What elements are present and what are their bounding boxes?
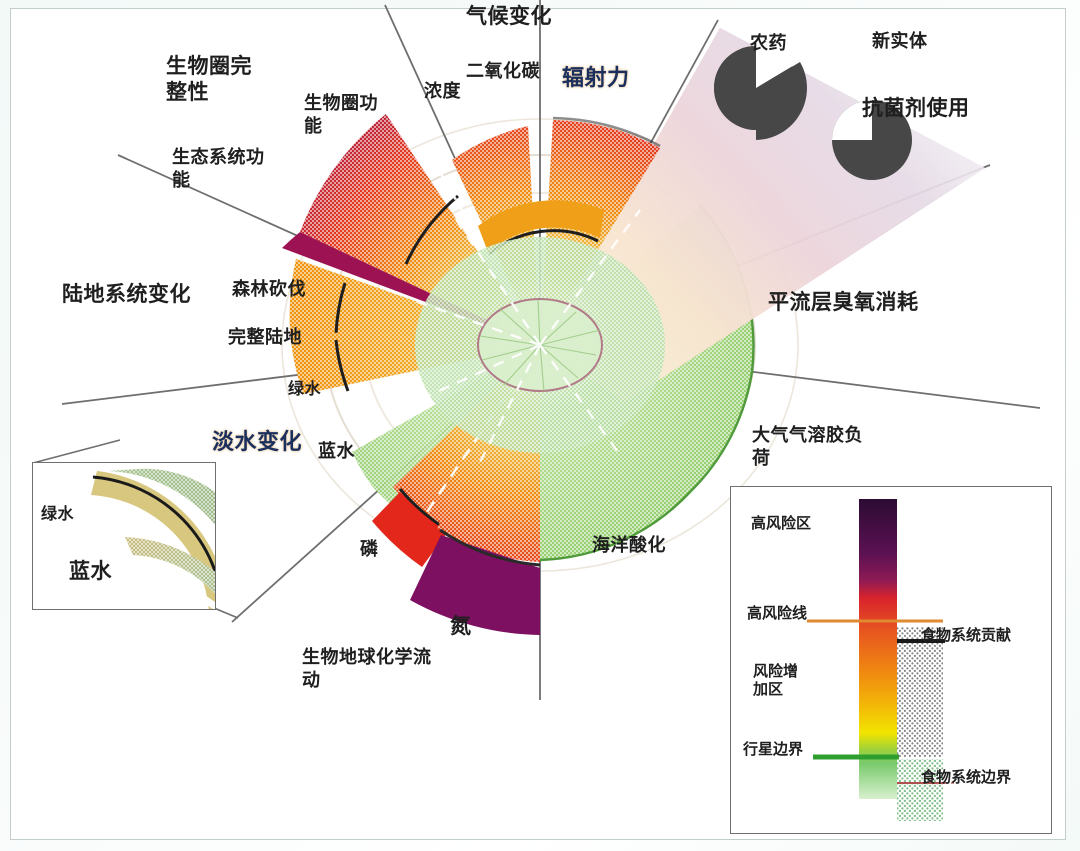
label-atmospheric-aerosol: 大气气溶胶负 荷	[752, 424, 922, 469]
inset-label-green-water: 绿水	[41, 505, 74, 525]
label-biogeochemical-flows: 生物地球化学流 动	[302, 646, 492, 691]
label-concentration: 浓度	[424, 80, 461, 103]
risk-gradient-bar	[859, 499, 897, 799]
legend-label-food-system-contribution: 食物系统贡献	[921, 627, 1011, 645]
label-co2: 二氧化碳	[466, 60, 540, 83]
legend-label-high-risk-zone: 高风险区	[751, 515, 811, 533]
legend-box: 高风险区 高风险线 风险增 加区 行星边界 食物系统贡献 食物系统边界	[730, 486, 1052, 834]
label-ecosystem-function: 生态系统功 能	[172, 146, 312, 191]
inset-label-blue-water: 蓝水	[69, 559, 112, 585]
inset-arcs	[33, 463, 215, 609]
label-land-system-change: 陆地系统变化	[62, 282, 191, 308]
label-freshwater-change: 淡水变化	[212, 428, 302, 456]
legend-label-planetary-boundary: 行星边界	[743, 741, 803, 759]
label-antimicrobial-use: 抗菌剂使用	[862, 96, 970, 122]
label-deforestation: 森林砍伐	[232, 278, 306, 301]
legend-label-high-risk-line: 高风险线	[747, 605, 807, 623]
label-intact-land: 完整陆地	[228, 326, 302, 349]
label-ocean-acidification: 海洋酸化	[592, 534, 666, 557]
label-phosphorus: 磷	[360, 538, 379, 561]
label-biosphere-integrity: 生物圈完 整性	[166, 54, 306, 107]
label-blue-water: 蓝水	[318, 440, 355, 463]
label-nitrogen: 氮	[450, 614, 472, 640]
label-pesticides: 农药	[750, 32, 787, 55]
label-climate-change: 气候变化	[466, 4, 552, 30]
freshwater-inset-box: 绿水 蓝水	[32, 462, 216, 610]
label-green-water: 绿水	[288, 380, 321, 400]
diagram-page: 气候变化 二氧化碳 浓度 辐射力 农药 新实体 抗菌剂使用 平流层臭氧消耗 大气…	[0, 0, 1080, 851]
label-radiative-forcing: 辐射力	[562, 64, 630, 92]
legend-label-food-system-boundary: 食物系统边界	[921, 769, 1011, 787]
label-novel-entities: 新实体	[872, 30, 928, 53]
label-biosphere-function: 生物圈功 能	[304, 92, 414, 137]
label-stratospheric-ozone: 平流层臭氧消耗	[768, 290, 919, 316]
legend-label-increasing-risk-zone: 风险增 加区	[753, 663, 843, 699]
